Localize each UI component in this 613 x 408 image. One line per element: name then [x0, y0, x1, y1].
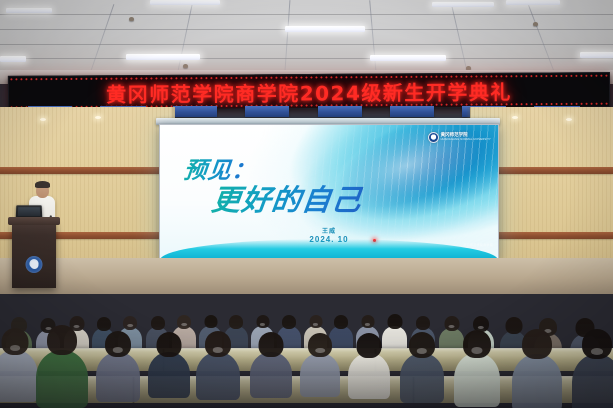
audience-member-front	[0, 350, 38, 402]
audience-head	[505, 317, 522, 334]
audience-head	[361, 315, 374, 328]
ceiling-fixture-panel	[318, 106, 362, 117]
audience-member-front	[96, 352, 140, 402]
audience-head	[2, 328, 29, 355]
ceiling-light-icon	[0, 56, 26, 62]
hair-tie	[10, 345, 21, 351]
university-logo: 黄冈师范学院 HUANGGANG NORMAL UNIVERSITY	[428, 132, 491, 143]
recessed-downlight-icon	[566, 118, 572, 121]
hair-tie	[478, 326, 484, 330]
ceiling-light-icon	[432, 2, 494, 7]
smoke-detector-icon	[533, 22, 538, 26]
audience-head	[259, 332, 284, 357]
projection-screen: 黄冈师范学院 HUANGGANG NORMAL UNIVERSITY 预见： 更…	[159, 124, 499, 262]
audience-member-front	[512, 354, 562, 408]
ceiling-light-icon	[126, 54, 200, 60]
audience-member-front	[572, 354, 613, 408]
recessed-downlight-icon	[95, 116, 101, 119]
audience-member-front	[348, 353, 390, 399]
ceiling-light-icon	[150, 0, 220, 5]
audience-head	[522, 329, 552, 359]
hair-tie	[417, 348, 427, 354]
ceiling-rail	[528, 5, 557, 76]
hair-tie	[260, 323, 265, 326]
hair-tie	[591, 348, 603, 355]
audience-member-front	[300, 353, 340, 397]
audience-member-front	[400, 353, 444, 403]
slide-footer-note: 黄冈师范学院商学院	[463, 243, 493, 247]
ceiling-rail	[284, 0, 290, 76]
ceiling-light-icon	[506, 0, 560, 5]
audience-head	[204, 315, 217, 328]
hair-tie	[113, 347, 123, 353]
audience-head	[97, 317, 111, 331]
university-seal-icon	[428, 132, 439, 143]
audience-area	[0, 252, 613, 408]
audience-member-front	[36, 350, 88, 408]
hair-tie	[365, 323, 370, 326]
ceiling-fixture-panel	[245, 106, 289, 117]
audience-head	[308, 333, 332, 357]
smoke-detector-icon	[129, 17, 134, 21]
audience-head	[256, 315, 269, 328]
audience-head	[123, 316, 137, 330]
audience-head	[205, 331, 231, 357]
speaker-hair	[35, 181, 50, 188]
audience-head	[157, 332, 182, 357]
hair-tie	[471, 347, 482, 353]
audience-head	[229, 315, 243, 329]
audience-head	[582, 329, 612, 359]
ceiling-light-icon	[580, 52, 613, 58]
presentation-slide: 黄冈师范学院 HUANGGANG NORMAL UNIVERSITY 预见： 更…	[160, 125, 498, 261]
audience-head	[47, 325, 77, 355]
audience-head	[357, 333, 382, 358]
hair-tie	[213, 347, 223, 353]
ceiling-rail	[369, 0, 377, 76]
recessed-downlight-icon	[512, 116, 518, 119]
audience-head	[409, 332, 435, 358]
led-banner-text: 黄冈师范学院商学院2024级新生开学典礼	[9, 75, 609, 108]
slide-presenter-name: 王威	[160, 226, 498, 235]
ceiling-seam	[0, 14, 613, 15]
audience-head	[334, 315, 348, 329]
audience-head	[444, 316, 459, 331]
ceiling-light-icon	[6, 8, 52, 13]
ceiling-light-icon	[370, 55, 446, 61]
audience-head	[416, 316, 430, 330]
recessed-downlight-icon	[40, 118, 46, 121]
ceiling-fixture-panel	[390, 106, 434, 117]
audience-head	[282, 315, 296, 329]
audience-member-front	[250, 352, 292, 398]
ceiling-light-icon	[285, 26, 365, 32]
audience-head	[151, 316, 165, 330]
ceiling-rail	[450, 2, 469, 76]
audience-head	[309, 315, 322, 328]
hair-tie	[315, 348, 325, 353]
ceiling	[0, 0, 613, 76]
smoke-detector-icon	[183, 64, 188, 68]
podium-top	[8, 217, 60, 225]
hair-tie	[74, 325, 80, 328]
ceiling-fixture-panel	[173, 106, 217, 117]
university-logo-subtitle: HUANGGANG NORMAL UNIVERSITY	[441, 138, 491, 141]
audience-head	[177, 315, 191, 329]
hair-tie	[313, 323, 318, 326]
hair-tie	[449, 325, 455, 328]
audience-head	[387, 314, 402, 329]
wall-accent-band	[0, 167, 175, 174]
slide-title-line2: 更好的自己	[209, 177, 364, 219]
hair-tie	[181, 323, 187, 326]
audience-member-front	[196, 352, 240, 400]
lecture-hall-photo: 黄冈师范学院商学院2024级新生开学典礼 黄冈师范学院 HUANGGANG NO…	[0, 0, 613, 408]
audience-head	[105, 331, 131, 357]
audience-member-front	[454, 353, 500, 407]
ceiling-seam	[0, 44, 613, 45]
ceiling-seam	[0, 58, 613, 59]
audience-member-front	[148, 352, 190, 398]
audience-head	[463, 330, 491, 358]
hair-tie	[127, 324, 133, 327]
